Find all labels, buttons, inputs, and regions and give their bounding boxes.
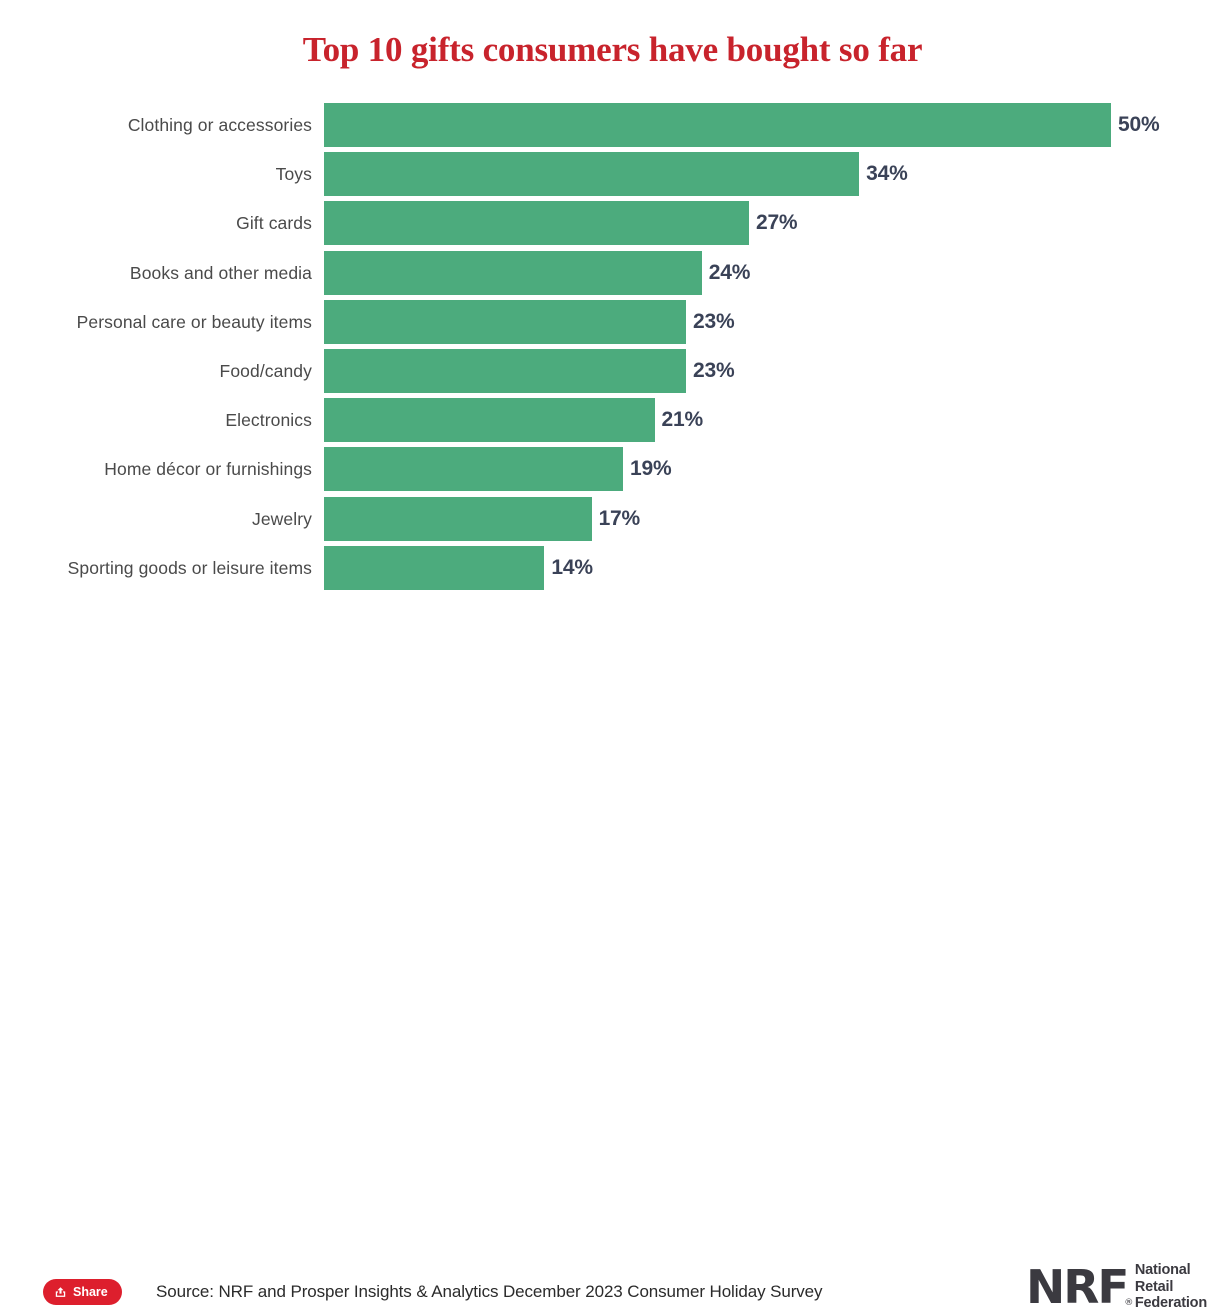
registered-trademark-icon: ® — [1124, 1299, 1133, 1308]
bar-container: 27% — [324, 201, 797, 245]
bar-row: Gift cards27% — [0, 201, 1225, 245]
nrf-wordmark: NRF ® — [1026, 1264, 1127, 1310]
bar[interactable] — [324, 300, 686, 344]
bar-value-label: 19% — [630, 447, 671, 491]
bar-container: 34% — [324, 152, 908, 196]
bar-value-label: 23% — [693, 300, 734, 344]
bar[interactable] — [324, 546, 544, 590]
nrf-name-line-1: National — [1135, 1262, 1207, 1279]
bar-value-label: 50% — [1118, 103, 1159, 147]
bar-container: 23% — [324, 300, 734, 344]
bar-container: 50% — [324, 103, 1159, 147]
nrf-name-line-3: Federation — [1135, 1295, 1207, 1312]
share-box-arrow-icon — [54, 1286, 67, 1299]
nrf-full-name: National Retail Federation — [1135, 1262, 1207, 1312]
bar-container: 21% — [324, 398, 703, 442]
share-button[interactable]: Share — [43, 1279, 122, 1305]
category-label: Books and other media — [0, 251, 312, 295]
chart-footer: Share Source: NRF and Prosper Insights &… — [0, 628, 1225, 698]
nrf-wordmark-text: NRF — [1026, 1260, 1127, 1314]
category-label: Electronics — [0, 398, 312, 442]
category-label: Sporting goods or leisure items — [0, 546, 312, 590]
bar-container: 23% — [324, 349, 734, 393]
bar-value-label: 34% — [866, 152, 907, 196]
bar-container: 24% — [324, 251, 750, 295]
bar-container: 19% — [324, 447, 671, 491]
bar[interactable] — [324, 152, 859, 196]
bar-value-label: 14% — [551, 546, 592, 590]
category-label: Jewelry — [0, 497, 312, 541]
category-label: Home décor or furnishings — [0, 447, 312, 491]
bar-row: Home décor or furnishings19% — [0, 447, 1225, 491]
source-note: Source: NRF and Prosper Insights & Analy… — [156, 1279, 822, 1305]
share-button-label: Share — [73, 1285, 108, 1299]
bar-row: Books and other media24% — [0, 251, 1225, 295]
bar-row: Electronics21% — [0, 398, 1225, 442]
bar[interactable] — [324, 447, 623, 491]
page-title: Top 10 gifts consumers have bought so fa… — [0, 30, 1225, 70]
bar-row: Sporting goods or leisure items14% — [0, 546, 1225, 590]
bar-container: 14% — [324, 546, 593, 590]
bar[interactable] — [324, 201, 749, 245]
bar-row: Food/candy23% — [0, 349, 1225, 393]
bar-value-label: 27% — [756, 201, 797, 245]
bar-row: Clothing or accessories50% — [0, 103, 1225, 147]
category-label: Clothing or accessories — [0, 103, 312, 147]
bar[interactable] — [324, 103, 1111, 147]
category-label: Personal care or beauty items — [0, 300, 312, 344]
bar-value-label: 24% — [709, 251, 750, 295]
bar[interactable] — [324, 251, 702, 295]
bar[interactable] — [324, 349, 686, 393]
bar[interactable] — [324, 497, 592, 541]
chart-page: Top 10 gifts consumers have bought so fa… — [0, 0, 1225, 709]
nrf-name-line-2: Retail — [1135, 1279, 1207, 1296]
category-label: Gift cards — [0, 201, 312, 245]
category-label: Toys — [0, 152, 312, 196]
nrf-logo: NRF ® National Retail Federation — [1027, 1262, 1207, 1312]
bar-value-label: 17% — [599, 497, 640, 541]
category-label: Food/candy — [0, 349, 312, 393]
bar-row: Personal care or beauty items23% — [0, 300, 1225, 344]
bar-row: Jewelry17% — [0, 497, 1225, 541]
bar-value-label: 21% — [662, 398, 703, 442]
bar-chart: Clothing or accessories50%Toys34%Gift ca… — [0, 103, 1225, 599]
bar-container: 17% — [324, 497, 640, 541]
bar-value-label: 23% — [693, 349, 734, 393]
bar-row: Toys34% — [0, 152, 1225, 196]
bar[interactable] — [324, 398, 655, 442]
